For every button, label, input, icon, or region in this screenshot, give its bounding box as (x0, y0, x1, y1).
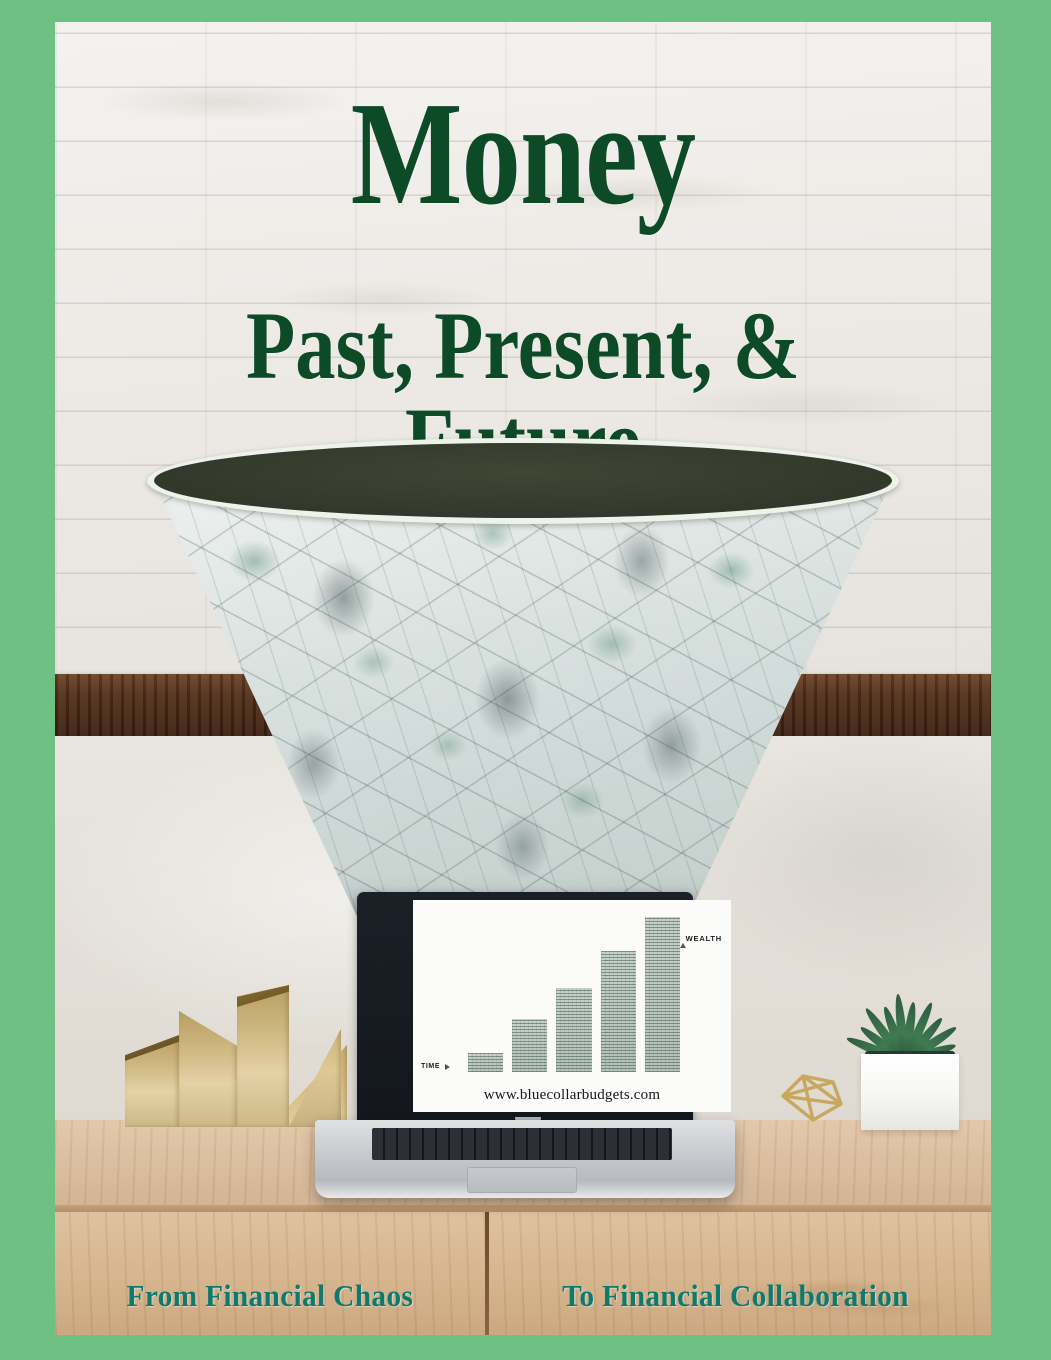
gold-geometric-ornament-icon (773, 1060, 851, 1126)
funnel-dollar-bills (150, 460, 895, 920)
chart-bars (468, 917, 680, 1072)
organizer-piece (179, 1011, 237, 1127)
plant-decor-group (773, 970, 973, 1130)
chart-yaxis-label-text: WEALTH (686, 934, 722, 943)
chart-bar (556, 988, 591, 1072)
funnel-opening (154, 443, 892, 518)
laptop-lid: TIME WEALTH (357, 892, 693, 1124)
laptop-screen[interactable]: TIME WEALTH (413, 900, 731, 1112)
laptop-trackpad[interactable] (467, 1167, 577, 1193)
chart-yaxis-label: WEALTH (680, 934, 722, 943)
chart-bar (512, 1019, 547, 1072)
book-cover: Money Past, Present, & Future (0, 0, 1051, 1360)
laptop-keyboard[interactable] (372, 1128, 672, 1160)
website-url[interactable]: www.bluecollarbudgets.com (413, 1087, 731, 1104)
organizer-piece (125, 1035, 179, 1127)
cover-photograph: Money Past, Present, & Future (55, 22, 991, 1335)
chart-bar (468, 1053, 503, 1072)
chart-xaxis-label-text: TIME (421, 1063, 440, 1070)
gold-file-organizers (73, 977, 323, 1127)
wealth-chart: TIME WEALTH (413, 900, 731, 1112)
money-funnel (55, 412, 991, 932)
caption-from-chaos: From Financial Chaos (127, 1278, 414, 1314)
caption-to-collaboration: To Financial Collaboration (562, 1278, 909, 1314)
page-title: Money (149, 80, 898, 228)
drawer-divider (485, 1212, 489, 1335)
laptop: TIME WEALTH (310, 892, 740, 1222)
organizer-piece (237, 985, 289, 1127)
plant-pot (861, 1054, 959, 1130)
arrow-right-icon (445, 1064, 450, 1070)
chart-bar (601, 951, 636, 1072)
chart-xaxis-label: TIME (421, 1063, 450, 1070)
chart-bar (645, 917, 680, 1072)
